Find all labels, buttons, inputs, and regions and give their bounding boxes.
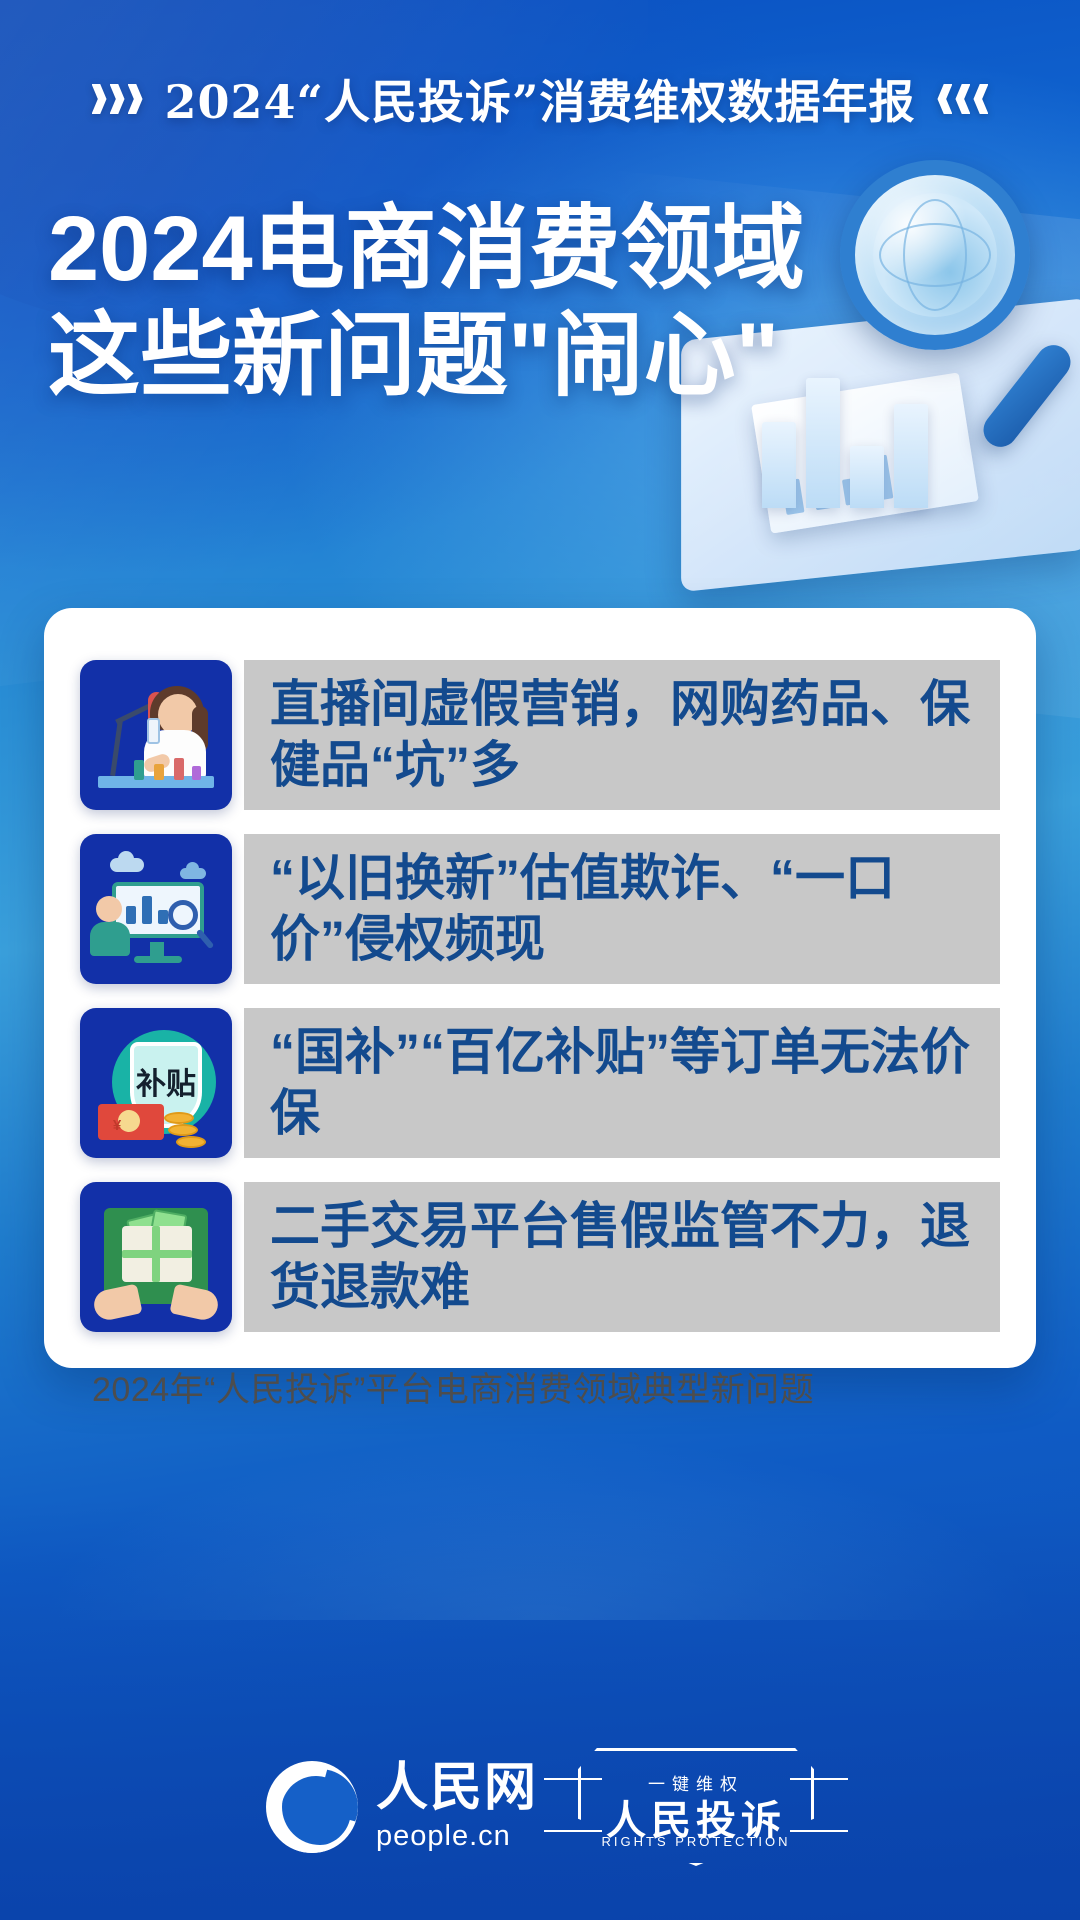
poster-header: 2024“人民投诉”消费维权数据年报: [0, 62, 1080, 136]
list-item[interactable]: 补贴 ¥ “国补”“百亿补贴”等订单无法价保: [80, 1008, 1000, 1158]
badge-rule-right: [790, 1830, 848, 1832]
globe-icon: [873, 193, 997, 317]
trade-in-appraisal-icon: [80, 834, 232, 984]
issue-text: “以旧换新”估值欺诈、“一口价”侵权频现: [270, 848, 986, 970]
people-cn-globe-icon: [266, 1761, 358, 1853]
list-item[interactable]: 二手交易平台售假监管不力，退货退款难: [80, 1182, 1000, 1332]
header-title: 2024“人民投诉”消费维权数据年报: [165, 66, 916, 132]
issue-text-chip: “以旧换新”估值欺诈、“一口价”侵权频现: [244, 834, 1000, 984]
chevron-right-triple-icon: [92, 84, 143, 114]
list-item[interactable]: “以旧换新”估值欺诈、“一口价”侵权频现: [80, 834, 1000, 984]
issue-text: 直播间虚假营销，网购药品、保健品“坑”多: [270, 674, 986, 796]
chevron-left-triple-icon: [937, 84, 988, 114]
hero-title-line-2: 这些新问题"闹心": [48, 303, 768, 410]
livestream-host-icon: [80, 660, 232, 810]
subsidy-shield-icon: 补贴 ¥: [80, 1008, 232, 1158]
card-caption: 2024年“人民投诉”平台电商消费领域典型新问题: [80, 1362, 1000, 1411]
people-cn-logo: 人民网 people.cn: [266, 1761, 538, 1853]
subsidy-shield-label: 补贴: [136, 1070, 196, 1100]
complaint-badge: 一键维权 人民投诉 RIGHTS PROTECTION: [578, 1748, 814, 1866]
poster-footer: 人民网 people.cn 一键维权 人民投诉 RIGHTS PROTECTIO…: [0, 1748, 1080, 1866]
people-cn-domain: people.cn: [376, 1820, 511, 1853]
issue-text-chip: 二手交易平台售假监管不力，退货退款难: [244, 1182, 1000, 1332]
issue-list: 直播间虚假营销，网购药品、保健品“坑”多: [80, 660, 1000, 1332]
issue-text-chip: 直播间虚假营销，网购药品、保健品“坑”多: [244, 660, 1000, 810]
people-cn-name: 人民网: [376, 1761, 538, 1816]
issue-text-chip: “国补”“百亿补贴”等订单无法价保: [244, 1008, 1000, 1158]
issue-text: “国补”“百亿补贴”等订单无法价保: [270, 1022, 986, 1144]
badge-bottom-text: RIGHTS PROTECTION: [578, 1834, 814, 1849]
hero-title: 2024电商消费领域 这些新问题"闹心": [48, 196, 768, 409]
secondhand-parcel-icon: [80, 1182, 232, 1332]
hero-title-line-1: 2024电商消费领域: [48, 196, 768, 303]
badge-rule-left: [544, 1830, 602, 1832]
issue-text: 二手交易平台售假监管不力，退货退款难: [270, 1196, 986, 1318]
magnifier-icon: [840, 160, 1030, 350]
list-item[interactable]: 直播间虚假营销，网购药品、保健品“坑”多: [80, 660, 1000, 810]
content-card: 直播间虚假营销，网购药品、保健品“坑”多: [44, 608, 1036, 1368]
